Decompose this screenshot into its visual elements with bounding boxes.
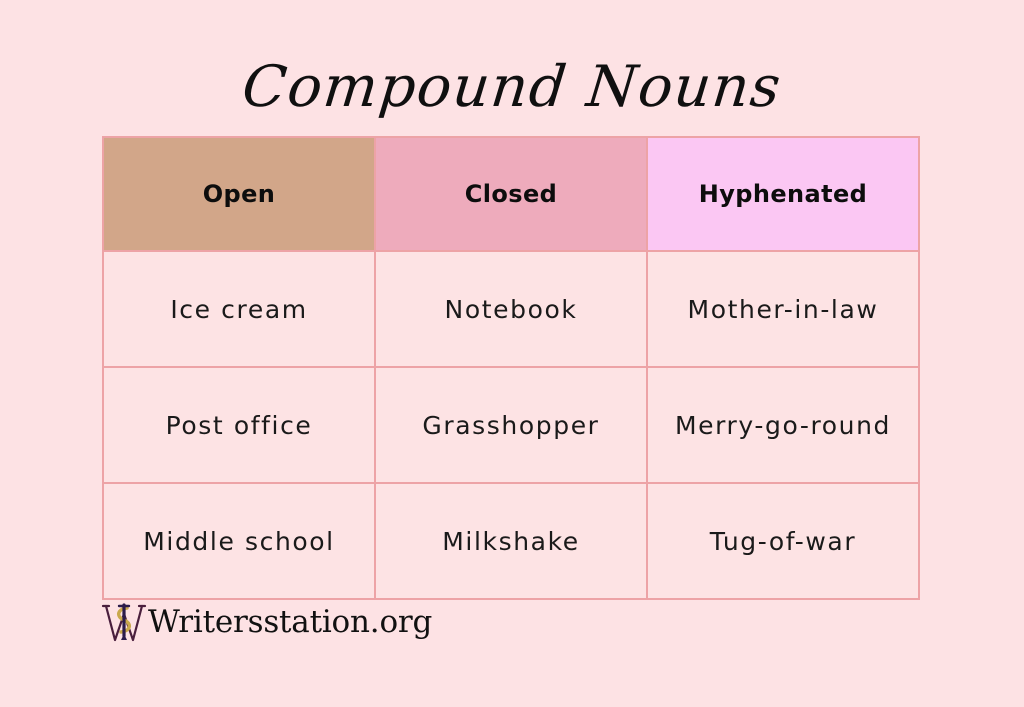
brand-footer: Writersstation.org [100,596,432,648]
page-title: Compound Nouns [0,58,1024,118]
compound-nouns-table-container: Open Closed Hyphenated Ice cream Noteboo… [102,136,920,590]
brand-name: Writersstation.org [148,604,432,640]
w-monogram-logo-icon [100,596,152,648]
column-header-open: Open [103,137,375,251]
compound-nouns-table: Open Closed Hyphenated Ice cream Noteboo… [102,136,920,600]
table-body: Ice cream Notebook Mother-in-law Post of… [103,251,919,599]
table-cell: Merry-go-round [647,367,919,483]
table-row: Middle school Milkshake Tug-of-war [103,483,919,599]
table-header-row: Open Closed Hyphenated [103,137,919,251]
table-header: Open Closed Hyphenated [103,137,919,251]
table-cell: Post office [103,367,375,483]
table-row: Ice cream Notebook Mother-in-law [103,251,919,367]
table-cell: Mother-in-law [647,251,919,367]
table-row: Post office Grasshopper Merry-go-round [103,367,919,483]
column-header-closed: Closed [375,137,647,251]
table-cell: Grasshopper [375,367,647,483]
column-header-hyphenated: Hyphenated [647,137,919,251]
table-cell: Middle school [103,483,375,599]
table-cell: Notebook [375,251,647,367]
table-cell: Ice cream [103,251,375,367]
table-cell: Tug-of-war [647,483,919,599]
poster-canvas: Compound Nouns Open Closed Hyphenated Ic… [0,0,1024,707]
table-cell: Milkshake [375,483,647,599]
